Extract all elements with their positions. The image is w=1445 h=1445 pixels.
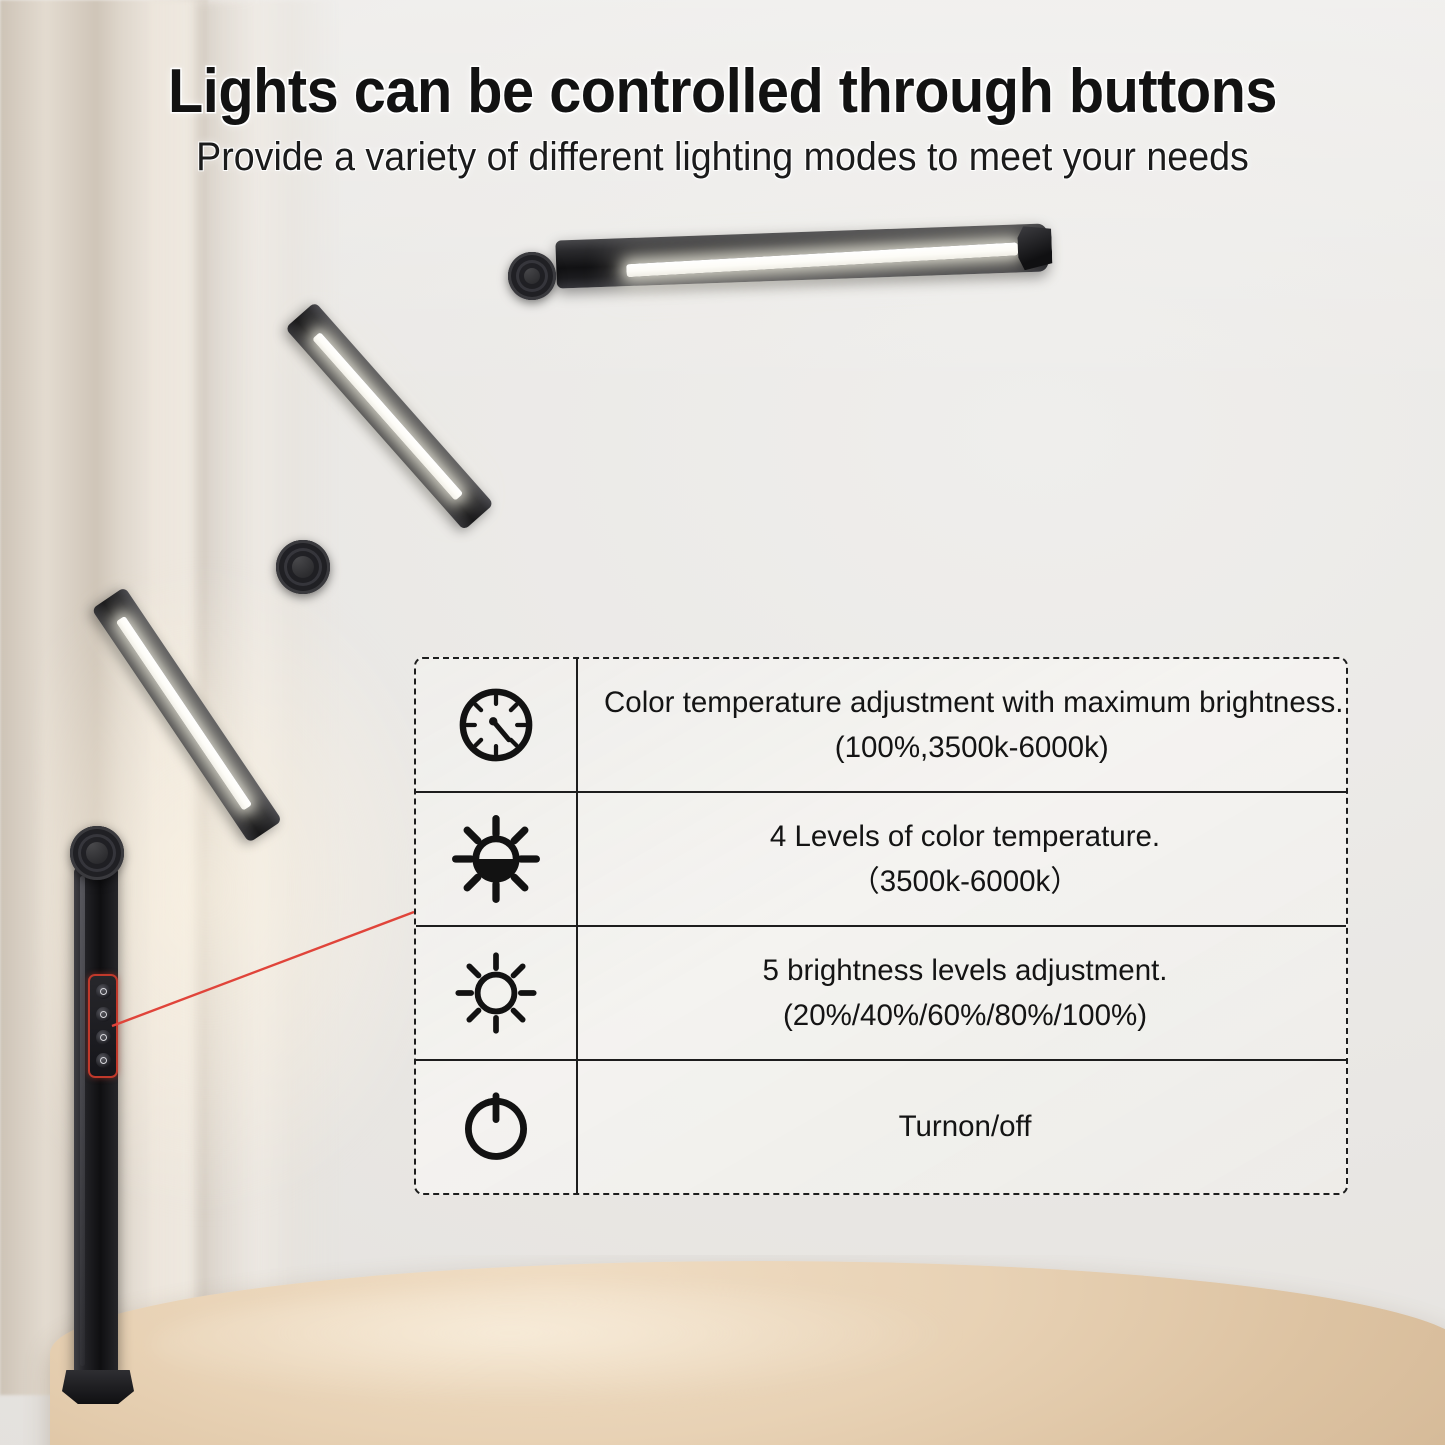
table-row: Color temperature adjustment with maximu… — [416, 659, 1346, 793]
base-pivot-knob-icon[interactable] — [70, 826, 124, 880]
table-row: Turnon/off — [416, 1061, 1346, 1193]
feature-icon-cell — [416, 1061, 578, 1193]
feature-icon-cell — [416, 927, 578, 1059]
feature-text-cell: Turnon/off — [578, 1061, 1346, 1193]
power-button[interactable] — [96, 984, 111, 999]
half-filled-sun-icon — [448, 811, 544, 907]
upper-arm-segment — [285, 302, 494, 531]
page-subtitle: Provide a variety of different lighting … — [43, 135, 1401, 180]
lamp-head-end-cap — [1017, 225, 1053, 270]
mode-button[interactable] — [96, 1053, 111, 1068]
lamp-head-led-bar — [555, 223, 1048, 288]
head-pivot-knob-icon[interactable] — [508, 252, 556, 300]
feature-icon-cell — [416, 659, 578, 791]
feature-text-cell: Color temperature adjustment with maximu… — [578, 659, 1359, 791]
feature-text-cell: 5 brightness levels adjustment. (20%/40%… — [578, 927, 1346, 1059]
power-icon — [450, 1081, 542, 1173]
clock-gauge-icon — [450, 679, 542, 771]
vertical-pole — [74, 868, 118, 1378]
feature-line-1: 5 brightness levels adjustment. — [762, 954, 1167, 987]
feature-line-2: (100%,3500k-6000k) — [600, 731, 1343, 764]
feature-text-cell: 4 Levels of color temperature. （3500k-60… — [578, 793, 1346, 925]
lamp-control-panel[interactable] — [88, 974, 118, 1078]
feature-table: Color temperature adjustment with maximu… — [414, 657, 1348, 1195]
sun-outline-icon — [450, 947, 542, 1039]
lower-arm-segment — [91, 587, 282, 843]
feature-icon-cell — [416, 793, 578, 925]
led-strip-head — [626, 242, 1018, 277]
table-row: 4 Levels of color temperature. （3500k-60… — [416, 793, 1346, 927]
led-strip-lower-arm — [116, 616, 253, 811]
led-strip-upper-arm — [312, 332, 463, 501]
pole-highlight — [80, 876, 85, 1366]
feature-line-2: （3500k-6000k） — [850, 865, 1080, 898]
feature-line-1: Turnon/off — [899, 1110, 1032, 1143]
feature-line-1: 4 Levels of color temperature. — [770, 820, 1160, 853]
page-title: Lights can be controlled through buttons — [51, 56, 1395, 127]
table-row: 5 brightness levels adjustment. (20%/40%… — [416, 927, 1346, 1061]
feature-line-2: (20%/40%/60%/80%/100%) — [783, 999, 1147, 1032]
brightness-button[interactable] — [96, 1030, 111, 1045]
desk-clamp-base — [62, 1370, 134, 1404]
feature-line-1: Color temperature adjustment with maximu… — [600, 686, 1343, 719]
color-temperature-button[interactable] — [96, 1007, 111, 1022]
middle-pivot-knob-icon[interactable] — [276, 540, 330, 594]
